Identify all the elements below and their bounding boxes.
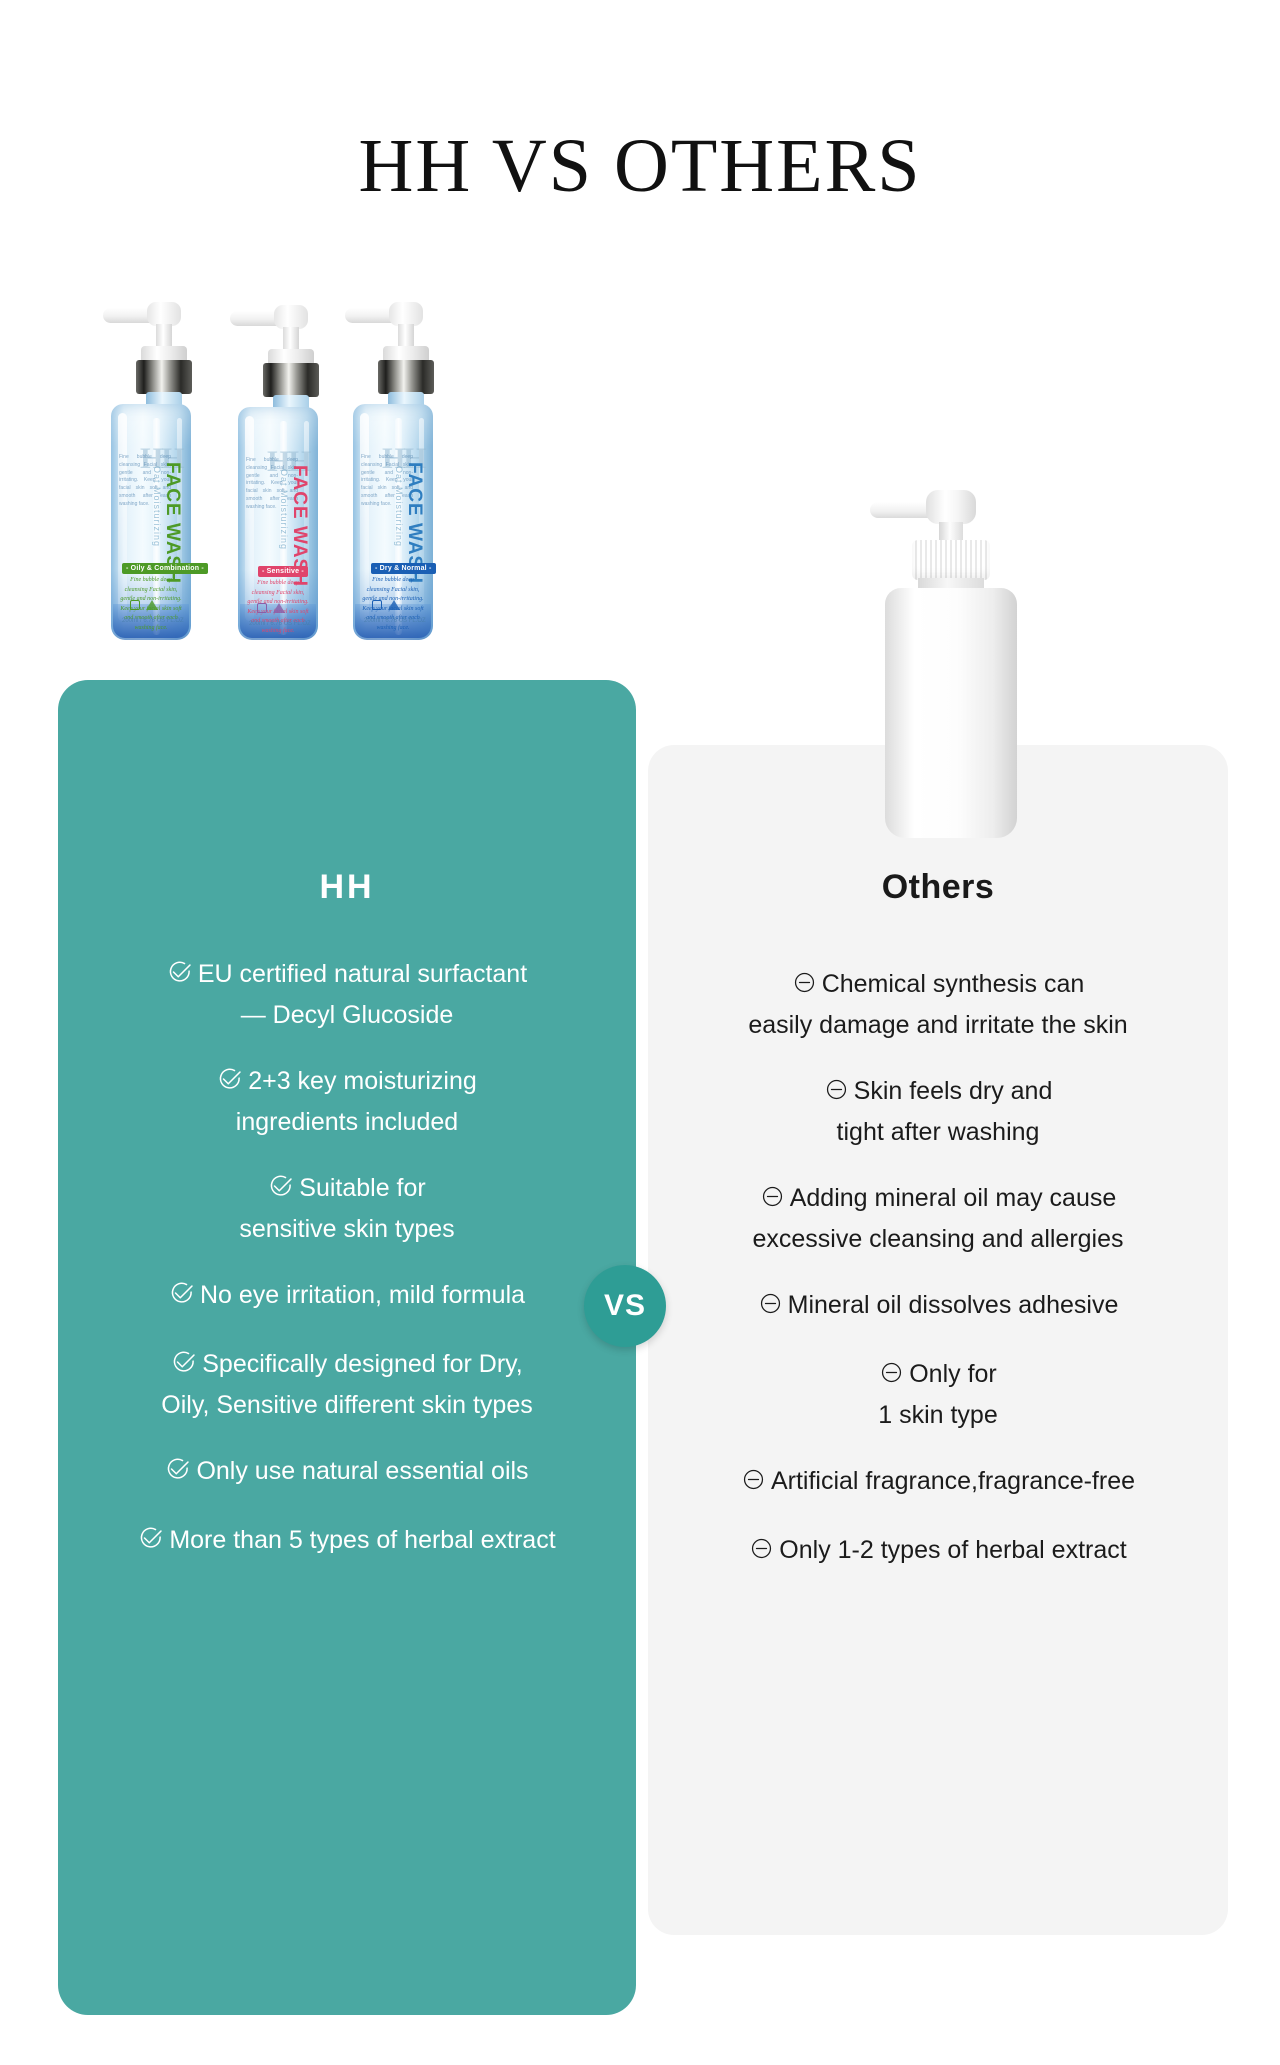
hh-bottle-3: HH Fine bubble deep cleansing Facial ski… xyxy=(345,300,439,640)
pump-head-icon xyxy=(389,302,423,326)
bottle-volume: 200ml / 6.76 US FL.OZ xyxy=(364,618,426,624)
feature-line: Mineral oil dissolves adhesive xyxy=(664,1286,1212,1327)
feature-item: Suitable forsensitive skin types xyxy=(58,1169,636,1248)
feature-item: Mineral oil dissolves adhesive xyxy=(648,1286,1228,1327)
feature-text: 2+3 key moisturizing xyxy=(248,1067,477,1095)
bottle-subtitle: Oat Moisturizing xyxy=(394,466,404,547)
feature-item: Chemical synthesis caneasily damage and … xyxy=(648,965,1228,1044)
feature-line: Chemical synthesis can xyxy=(664,965,1212,1006)
feature-item: EU certified natural surfactant— Decyl G… xyxy=(58,955,636,1034)
pump-nozzle-icon xyxy=(870,502,934,518)
check-circle-icon xyxy=(165,1455,191,1493)
chrome-collar-icon xyxy=(263,363,319,397)
feature-line: — Decyl Glucoside xyxy=(76,996,618,1034)
feature-item: Only use natural essential oils xyxy=(58,1452,636,1493)
check-circle-icon xyxy=(217,1065,243,1103)
vs-badge: VS xyxy=(584,1265,666,1347)
chrome-collar-icon xyxy=(136,360,192,394)
feature-text: ingredients included xyxy=(236,1108,458,1136)
feature-line: Only 1-2 types of herbal extract xyxy=(664,1531,1212,1572)
feature-text: EU certified natural surfactant xyxy=(198,960,527,988)
feature-line: excessive cleansing and allergies xyxy=(664,1220,1212,1258)
check-circle-icon xyxy=(138,1524,164,1562)
bottle-subtitle: Oat Moisturizing xyxy=(279,469,289,550)
feature-text: Adding mineral oil may cause xyxy=(790,1184,1117,1212)
check-circle-icon xyxy=(171,1348,197,1386)
feature-text: Oily, Sensitive different skin types xyxy=(161,1391,532,1419)
product-imagery: HH Fine bubble deep cleansing Facial ski… xyxy=(0,0,1280,880)
hh-bottle-2: HH Fine bubble deep cleansing Facial ski… xyxy=(230,303,324,640)
feature-line: tight after washing xyxy=(664,1113,1212,1151)
recycle-triangle-icon xyxy=(388,600,400,610)
feature-line: EU certified natural surfactant xyxy=(76,955,618,996)
feature-text: More than 5 types of herbal extract xyxy=(169,1526,555,1554)
minus-circle-icon xyxy=(879,1358,904,1396)
pump-head-icon xyxy=(147,302,181,326)
feature-item: Adding mineral oil may causeexcessive cl… xyxy=(648,1179,1228,1258)
feature-line: 2+3 key moisturizing xyxy=(76,1062,618,1103)
check-circle-icon xyxy=(167,958,193,996)
minus-circle-icon xyxy=(792,968,817,1006)
hh-column-heading: HH xyxy=(58,868,636,907)
recycle-box-icon xyxy=(372,600,382,610)
feature-line: ingredients included xyxy=(76,1103,618,1141)
minus-circle-icon xyxy=(749,1534,774,1572)
feature-item: Artificial fragrance,fragrance-free xyxy=(648,1462,1228,1503)
competitor-bottle xyxy=(870,488,1020,850)
feature-item: Only for1 skin type xyxy=(648,1355,1228,1434)
feature-text: Only 1-2 types of herbal extract xyxy=(779,1536,1126,1564)
bottle-volume: 200ml / 6.76 US FL.OZ xyxy=(122,618,184,624)
others-column-heading: Others xyxy=(648,868,1228,907)
feature-text: tight after washing xyxy=(837,1118,1040,1146)
feature-line: easily damage and irritate the skin xyxy=(664,1006,1212,1044)
recycle-triangle-icon xyxy=(273,603,285,613)
feature-text: excessive cleansing and allergies xyxy=(752,1225,1123,1253)
comparison-infographic: HH VS OTHERS HH Fine bu xyxy=(0,0,1280,2065)
recycle-box-icon xyxy=(257,603,267,613)
feature-text: Mineral oil dissolves adhesive xyxy=(788,1291,1119,1319)
chrome-collar-icon xyxy=(378,360,434,394)
bottle-volume: 200ml / 6.76 US FL.OZ xyxy=(249,621,311,627)
check-circle-icon xyxy=(169,1279,195,1317)
feature-line: Specifically designed for Dry, xyxy=(76,1345,618,1386)
feature-text: 1 skin type xyxy=(878,1401,998,1429)
minus-circle-icon xyxy=(758,1289,783,1327)
minus-circle-icon xyxy=(824,1075,849,1113)
minus-circle-icon xyxy=(760,1182,785,1220)
feature-text: Suitable for xyxy=(299,1174,425,1202)
feature-text: Only for xyxy=(909,1360,997,1388)
feature-line: Suitable for xyxy=(76,1169,618,1210)
pump-stem-icon xyxy=(156,324,172,348)
feature-text: Only use natural essential oils xyxy=(196,1457,528,1485)
feature-item: More than 5 types of herbal extract xyxy=(58,1521,636,1562)
minus-circle-icon xyxy=(741,1465,766,1503)
feature-text: — Decyl Glucoside xyxy=(241,1001,454,1029)
bottle-variant-badge: - Oily & Combination - xyxy=(122,563,208,574)
feature-line: Only use natural essential oils xyxy=(76,1452,618,1493)
feature-text: sensitive skin types xyxy=(239,1215,454,1243)
feature-line: sensitive skin types xyxy=(76,1210,618,1248)
feature-item: Only 1-2 types of herbal extract xyxy=(648,1531,1228,1572)
pump-stem-icon xyxy=(398,324,414,348)
feature-text: Chemical synthesis can xyxy=(822,970,1085,998)
feature-item: No eye irritation, mild formula xyxy=(58,1276,636,1317)
pump-cap-icon xyxy=(912,540,990,580)
pump-head-icon xyxy=(926,490,976,524)
feature-text: Skin feels dry and xyxy=(854,1077,1053,1105)
hh-feature-list: EU certified natural surfactant— Decyl G… xyxy=(58,955,636,1590)
recycle-triangle-icon xyxy=(146,600,158,610)
feature-line: Skin feels dry and xyxy=(664,1072,1212,1113)
pump-head-icon xyxy=(274,305,308,329)
feature-line: No eye irritation, mild formula xyxy=(76,1276,618,1317)
bottle-variant-badge: - Sensitive - xyxy=(258,566,308,577)
feature-item: Specifically designed for Dry,Oily, Sens… xyxy=(58,1345,636,1424)
feature-text: Artificial fragrance,fragrance-free xyxy=(771,1467,1135,1495)
feature-line: 1 skin type xyxy=(664,1396,1212,1434)
feature-text: Specifically designed for Dry, xyxy=(202,1350,523,1378)
hh-bottle-1: HH Fine bubble deep cleansing Facial ski… xyxy=(103,300,197,640)
bottle-body-icon xyxy=(885,588,1017,838)
feature-item: Skin feels dry andtight after washing xyxy=(648,1072,1228,1151)
others-feature-list: Chemical synthesis caneasily damage and … xyxy=(648,965,1228,1600)
pump-stem-icon xyxy=(283,327,299,351)
feature-text: No eye irritation, mild formula xyxy=(200,1281,525,1309)
feature-line: Oily, Sensitive different skin types xyxy=(76,1386,618,1424)
recycle-box-icon xyxy=(130,600,140,610)
bottle-variant-badge: - Dry & Normal - xyxy=(371,563,436,574)
feature-text: easily damage and irritate the skin xyxy=(748,1011,1127,1039)
bottle-subtitle: Oat Moisturizing xyxy=(152,466,162,547)
feature-line: Adding mineral oil may cause xyxy=(664,1179,1212,1220)
check-circle-icon xyxy=(268,1172,294,1210)
feature-item: 2+3 key moisturizingingredients included xyxy=(58,1062,636,1141)
feature-line: Only for xyxy=(664,1355,1212,1396)
feature-line: Artificial fragrance,fragrance-free xyxy=(664,1462,1212,1503)
feature-line: More than 5 types of herbal extract xyxy=(76,1521,618,1562)
